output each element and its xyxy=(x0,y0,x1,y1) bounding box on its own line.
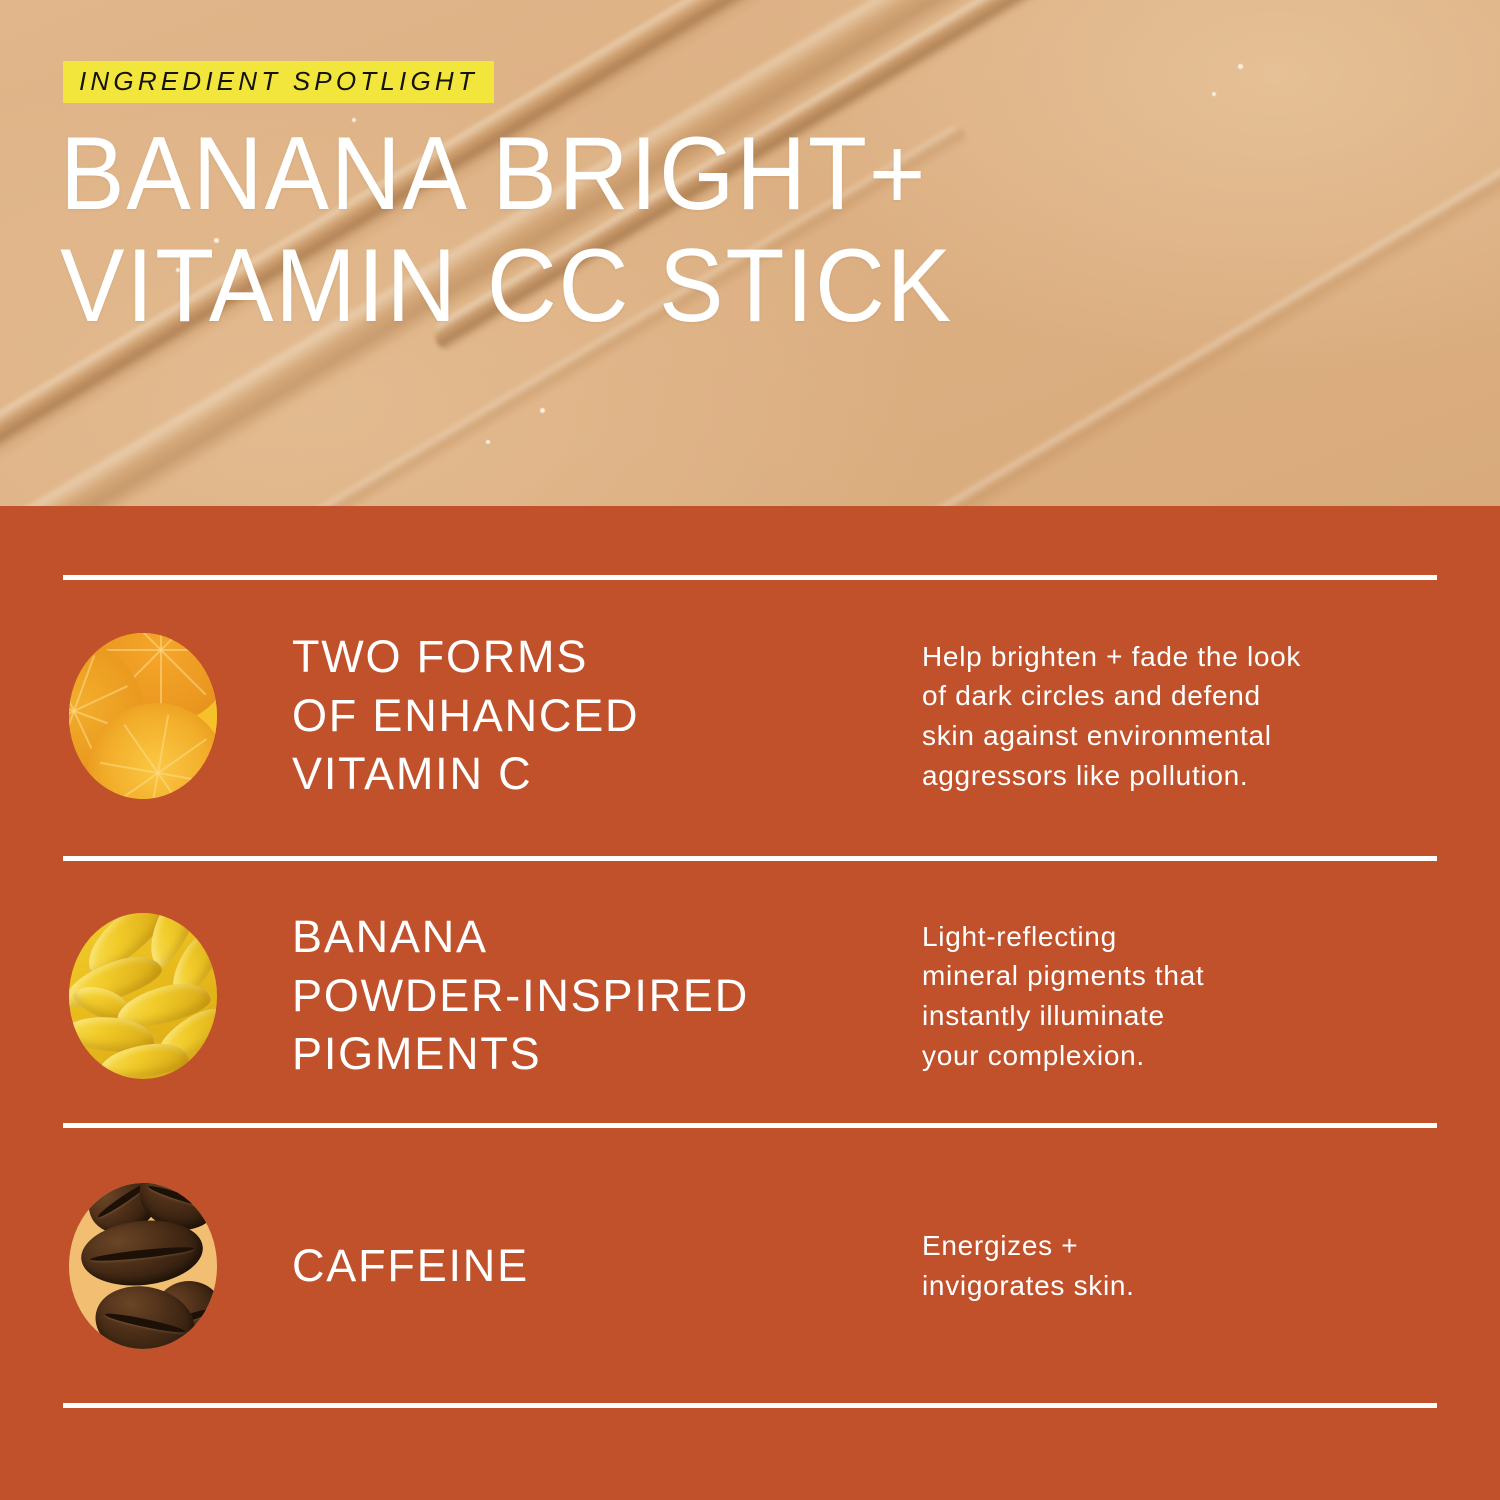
hero-section: INGREDIENT SPOTLIGHT BANANA BRIGHT+ VITA… xyxy=(0,0,1500,506)
feature-title: CAFFEINE xyxy=(292,1237,912,1296)
page-title: BANANA BRIGHT+ VITAMIN CC STICK xyxy=(60,118,953,343)
feature-title: BANANA POWDER-INSPIRED PIGMENTS xyxy=(292,908,912,1084)
ingredient-spotlight-poster: INGREDIENT SPOTLIGHT BANANA BRIGHT+ VITA… xyxy=(0,0,1500,1500)
sparkle-highlight xyxy=(486,440,490,444)
feature-row: CAFFEINE Energizes + invigorates skin. xyxy=(63,1166,1437,1366)
sparkle-highlight xyxy=(1212,92,1216,96)
divider xyxy=(63,575,1437,580)
sparkle-highlight xyxy=(1238,64,1243,69)
feature-description: Energizes + invigorates skin. xyxy=(922,1226,1442,1306)
coffee-beans-icon xyxy=(69,1183,217,1349)
features-section: TWO FORMS OF ENHANCED VITAMIN C Help bri… xyxy=(0,506,1500,1500)
citrus-orange-slices-icon xyxy=(69,633,217,799)
feature-title: TWO FORMS OF ENHANCED VITAMIN C xyxy=(292,628,912,804)
feature-description: Light-reflecting mineral pigments that i… xyxy=(922,917,1442,1076)
divider xyxy=(63,1403,1437,1408)
sparkle-highlight xyxy=(540,408,545,413)
feature-row: TWO FORMS OF ENHANCED VITAMIN C Help bri… xyxy=(63,616,1437,816)
divider xyxy=(63,1123,1437,1128)
ingredient-spotlight-badge: INGREDIENT SPOTLIGHT xyxy=(63,61,494,103)
feature-description: Help brighten + fade the look of dark ci… xyxy=(922,637,1442,796)
divider xyxy=(63,856,1437,861)
banana-pigments-icon xyxy=(69,913,217,1079)
feature-row: BANANA POWDER-INSPIRED PIGMENTS Light-re… xyxy=(63,896,1437,1096)
